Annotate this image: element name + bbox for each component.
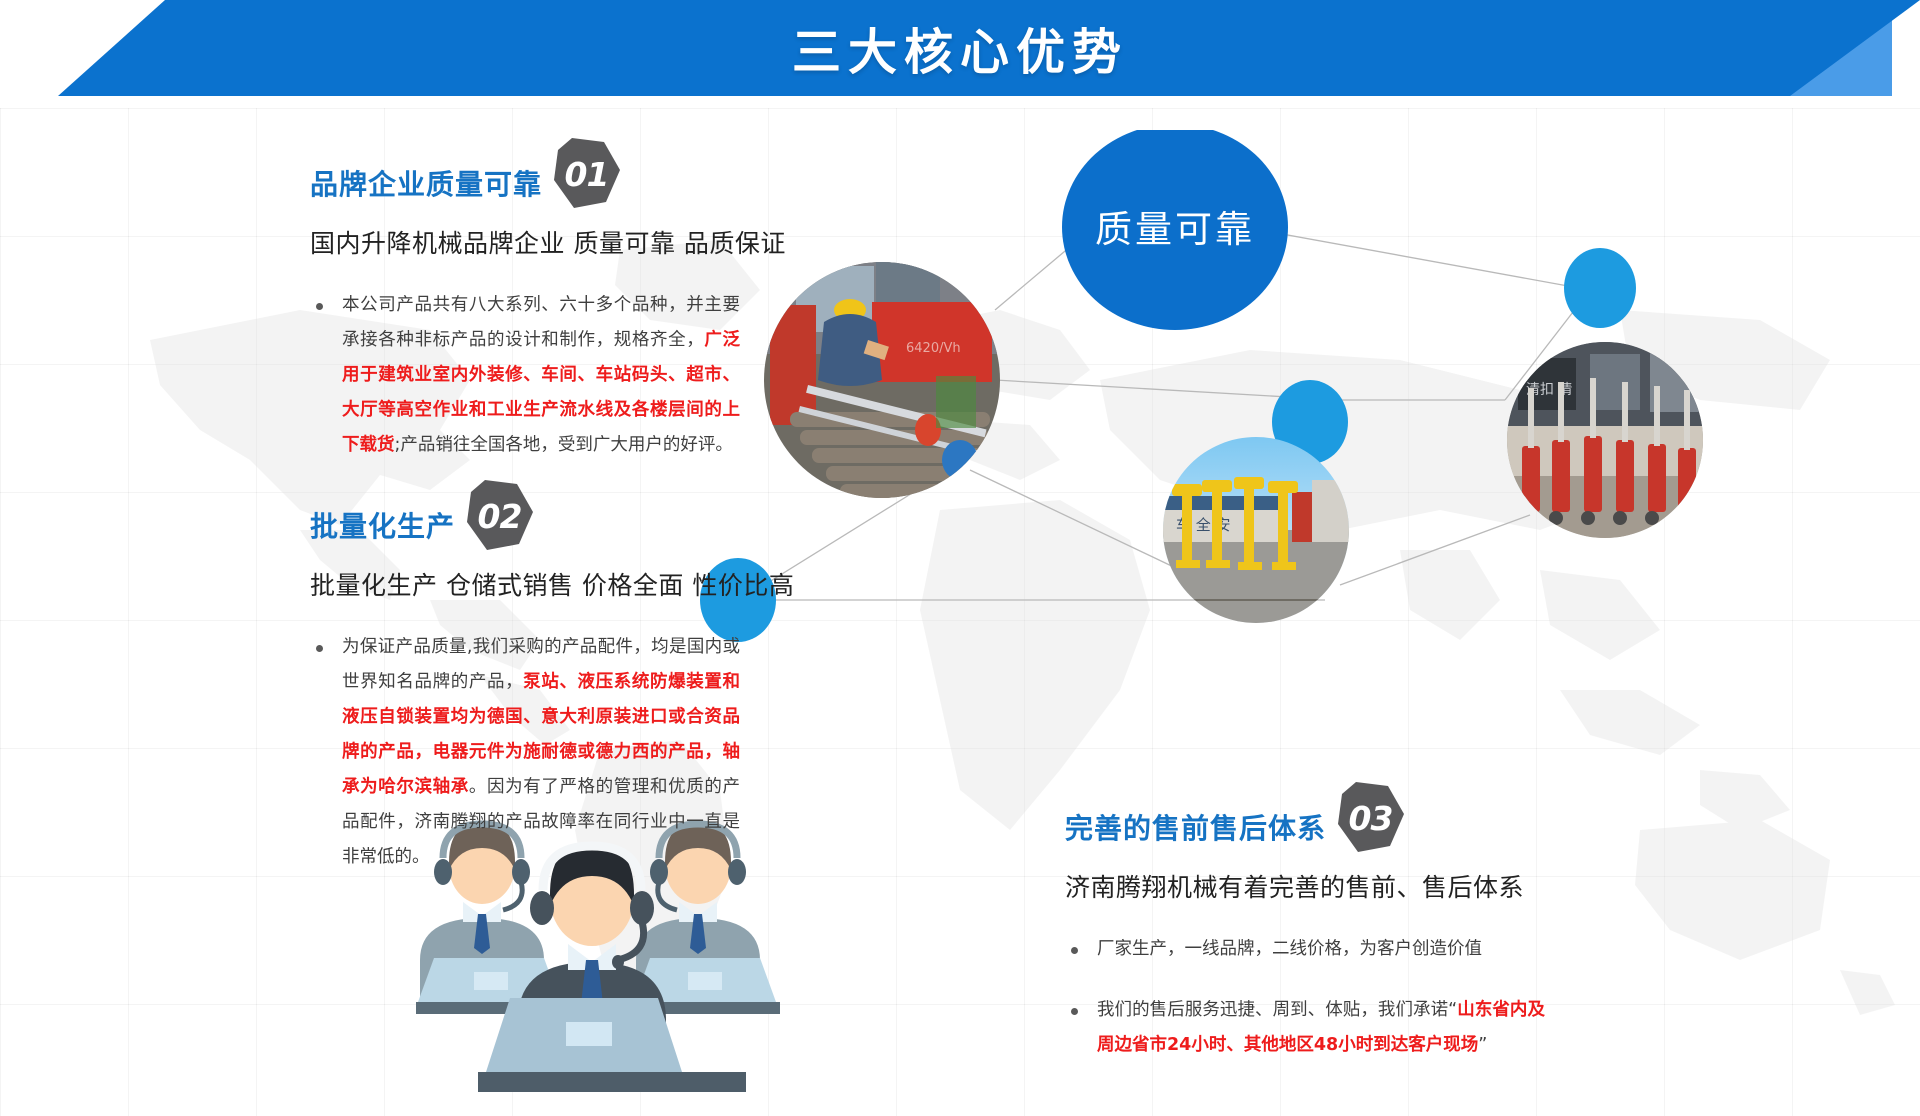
feature-number-text-02: 02 <box>463 478 535 554</box>
feature-heading-03: 完善的售前售后体系 03 <box>1065 780 1545 874</box>
bullet-item: 厂家生产，一线品牌，二线价格，为客户创造价值 <box>1065 932 1545 967</box>
feature-block-03: 完善的售前售后体系 03 济南腾翔机械有着完善的售前、售后体系 厂家生产，一线品… <box>1065 780 1545 1089</box>
bullet-item: 为保证产品质量,我们采购的产品配件，均是国内或世界知名品牌的产品，泵站、液压系统… <box>310 630 740 875</box>
feature-heading-01: 品牌企业质量可靠 01 <box>310 136 740 230</box>
feature-number-badge-03: 03 <box>1334 780 1406 856</box>
svg-text:6420/Vh: 6420/Vh <box>906 341 961 356</box>
page-title: 三大核心优势 <box>0 0 1920 96</box>
factory-workshop-photo: 6420/Vh <box>764 262 1000 499</box>
body-text: ;产品销往全国各地，受到广大用户的好评。 <box>395 435 733 455</box>
feature-bullets-01: 本公司产品共有八大系列、六十多个品种，并主要承接各种非标产品的设计和制作，规格齐… <box>310 288 740 463</box>
feature-heading-02: 批量化生产 02 <box>310 478 740 572</box>
main-node-label: 质量可靠 <box>1095 208 1255 251</box>
feature-number-badge-02: 02 <box>463 478 535 554</box>
bullet-item: 我们的售后服务迅捷、周到、体贴，我们承诺“山东省内及周边省市24小时、其他地区4… <box>1065 993 1545 1063</box>
node-dot-right <box>1564 248 1636 328</box>
feature-title-03: 完善的售前售后体系 <box>1065 807 1326 847</box>
page-banner: 三大核心优势 <box>0 0 1920 108</box>
feature-block-02: 批量化生产 02 批量化生产 仓储式销售 价格全面 性价比高 为保证产品质量,我… <box>310 478 740 901</box>
feature-number-text-03: 03 <box>1334 780 1406 856</box>
body-text: ” <box>1478 1035 1487 1055</box>
feature-bullets-02: 为保证产品质量,我们采购的产品配件，均是国内或世界知名品牌的产品，泵站、液压系统… <box>310 630 740 875</box>
body-text: 本公司产品共有八大系列、六十多个品种，并主要承接各种非标产品的设计和制作，规格齐… <box>342 295 740 350</box>
body-text: 厂家生产，一线品牌，二线价格，为客户创造价值 <box>1097 939 1482 959</box>
feature-title-02: 批量化生产 <box>310 505 455 545</box>
feature-block-01: 品牌企业质量可靠 01 国内升降机械品牌企业 质量可靠 品质保证 本公司产品共有… <box>310 136 740 489</box>
lift-products-outdoor-photo: 清扣 清 <box>1507 342 1704 538</box>
feature-bullets-03: 厂家生产，一线品牌，二线价格，为客户创造价值 我们的售后服务迅捷、周到、体贴，我… <box>1065 932 1545 1063</box>
aerial-work-platform-photo: 车 全 安 <box>1163 437 1350 623</box>
feature-number-text-01: 01 <box>550 136 622 212</box>
bullet-item: 本公司产品共有八大系列、六十多个品种，并主要承接各种非标产品的设计和制作，规格齐… <box>310 288 740 463</box>
feature-title-01: 品牌企业质量可靠 <box>310 163 542 203</box>
feature-number-badge-01: 01 <box>550 136 622 212</box>
body-text: 我们的售后服务迅捷、周到、体贴，我们承诺“ <box>1097 1000 1457 1020</box>
quality-network-diagram: 质量可靠 6420/Vh <box>700 130 1920 650</box>
